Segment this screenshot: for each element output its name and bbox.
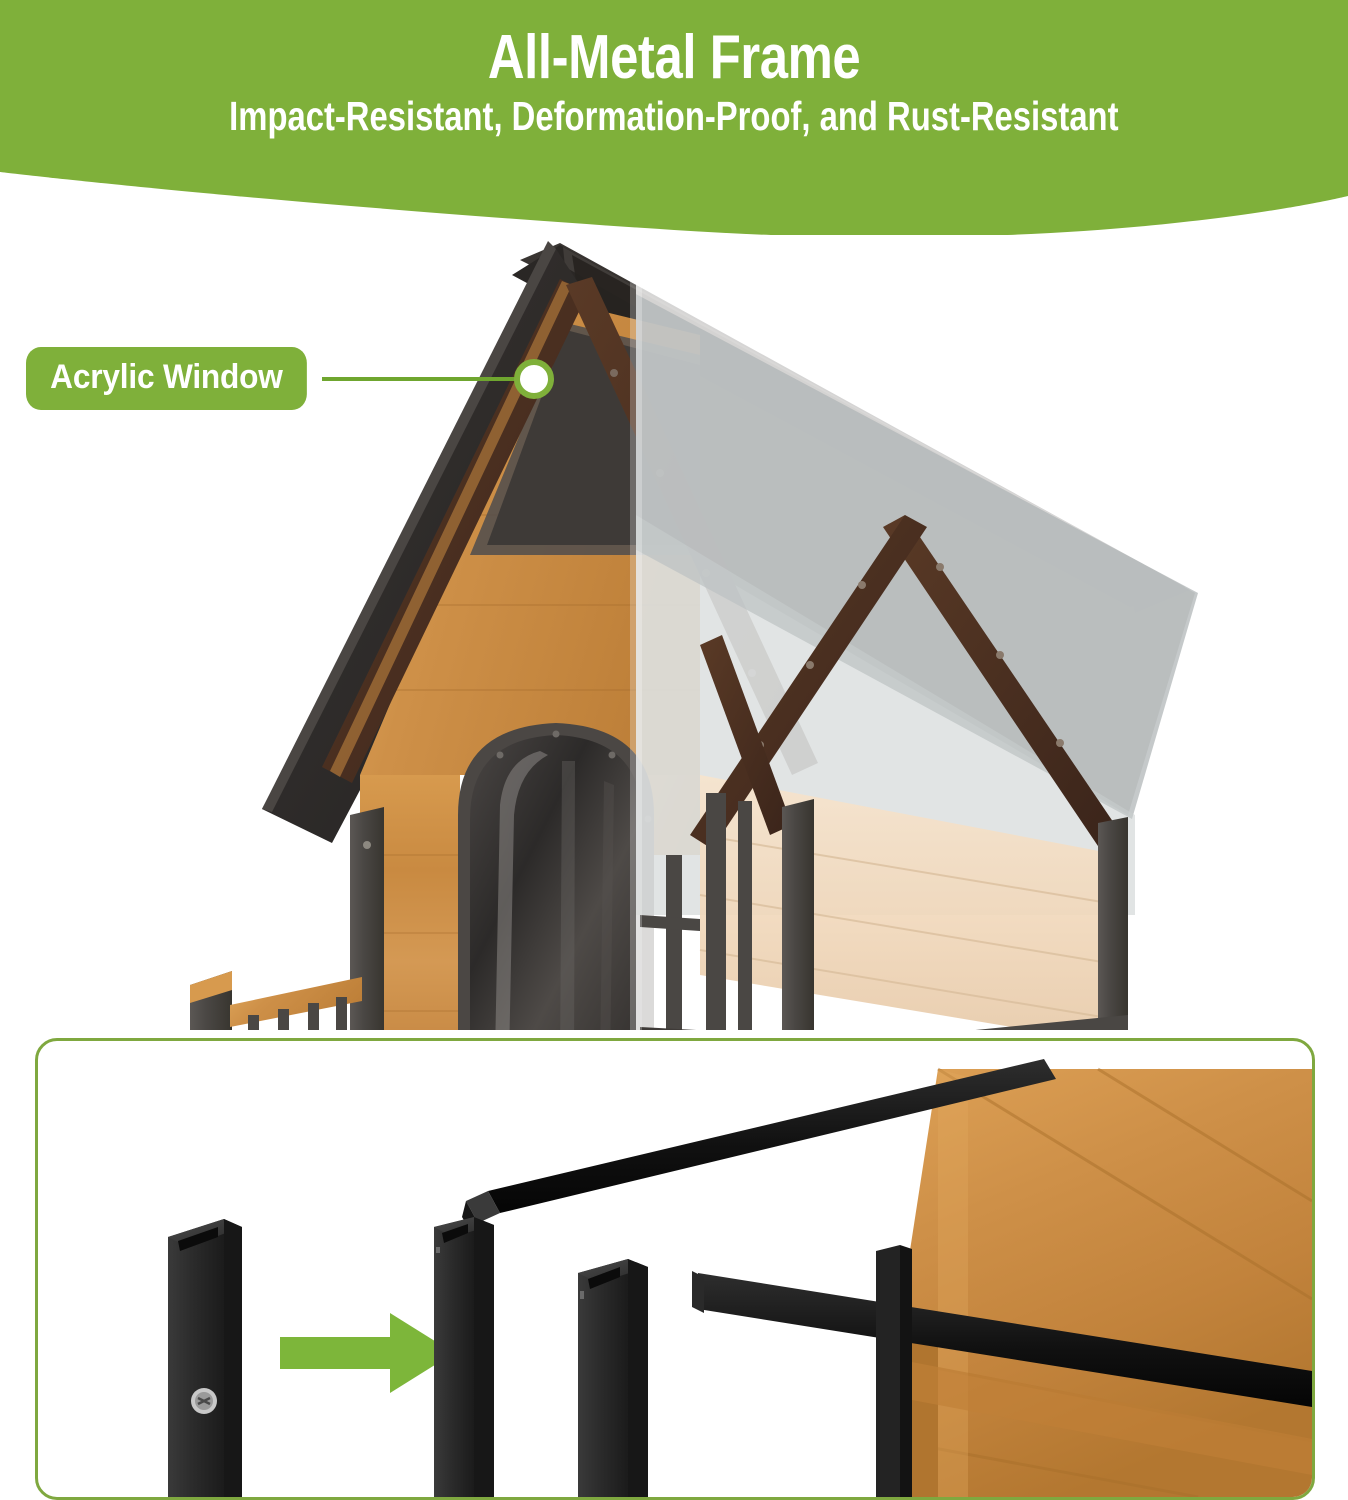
screw-head bbox=[191, 1388, 217, 1414]
header-banner: All-Metal Frame Impact-Resistant, Deform… bbox=[0, 0, 1348, 235]
assembly-detail-panel bbox=[35, 1038, 1315, 1500]
banner-shape bbox=[0, 0, 1348, 235]
callout-leader-line bbox=[322, 377, 522, 381]
acrylic-window-callout: Acrylic Window bbox=[26, 347, 554, 410]
xray-overlay bbox=[572, 215, 1348, 1030]
metal-corner-trim bbox=[876, 1245, 912, 1497]
metal-post-installed bbox=[434, 1217, 494, 1497]
metal-post-assembly-illustration bbox=[38, 1041, 1312, 1497]
metal-post-loose bbox=[168, 1219, 242, 1497]
dog-house-illustration bbox=[0, 215, 1348, 1030]
hero-product-image bbox=[0, 215, 1348, 1030]
assembly-arrow-icon bbox=[280, 1313, 454, 1393]
metal-post-attached bbox=[578, 1259, 648, 1497]
acrylic-window-label: Acrylic Window bbox=[26, 347, 307, 410]
wood-panel-block bbox=[896, 1069, 1312, 1497]
callout-target-dot bbox=[514, 359, 554, 399]
